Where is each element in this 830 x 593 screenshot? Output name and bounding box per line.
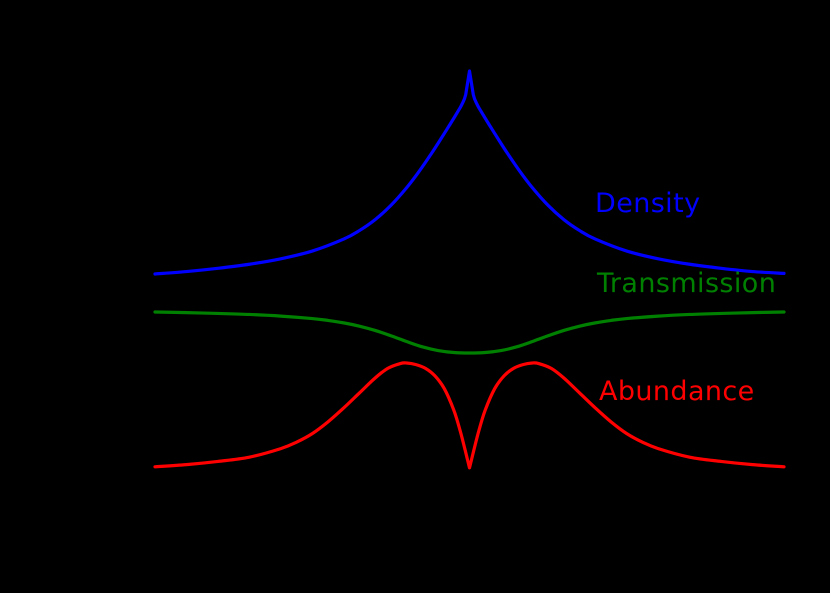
transmission-label: Transmission	[597, 270, 776, 297]
density-label: Density	[595, 190, 700, 217]
spectral-line-profile-figure: Density Transmission Abundance	[0, 0, 830, 593]
abundance-label: Abundance	[599, 378, 755, 405]
